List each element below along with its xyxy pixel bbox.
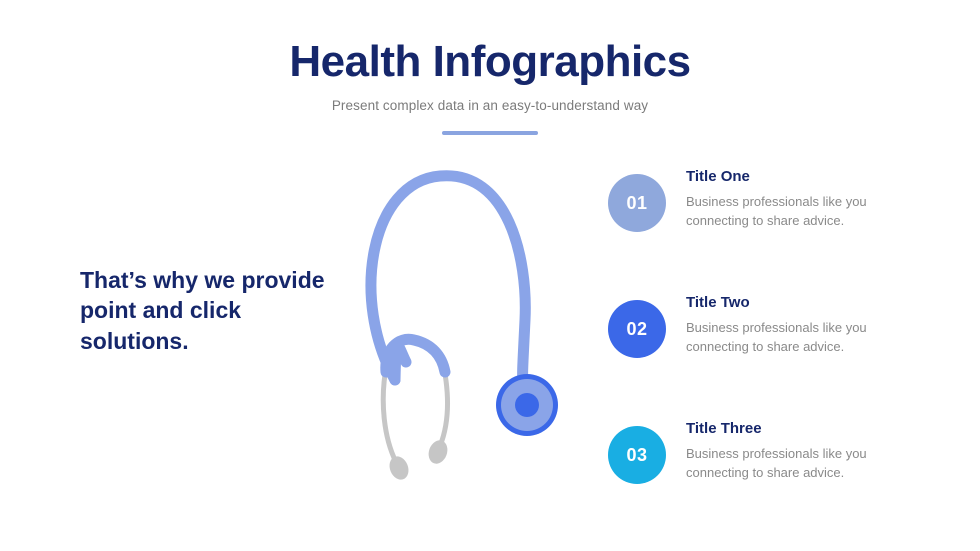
chestpiece-icon <box>496 374 558 436</box>
steps-list: 01 Title One Business professionals like… <box>608 168 938 516</box>
list-item[interactable]: 02 Title Two Business professionals like… <box>608 294 938 390</box>
step-description: Business professionals like you connecti… <box>686 319 901 357</box>
stethoscope-left-tube <box>395 346 406 380</box>
step-badge-03: 03 <box>608 426 666 484</box>
step-badge-01: 01 <box>608 174 666 232</box>
list-item[interactable]: 01 Title One Business professionals like… <box>608 168 938 264</box>
slide-canvas: Health Infographics Present complex data… <box>0 0 980 551</box>
step-badge-02: 02 <box>608 300 666 358</box>
ear-buds-icon <box>386 438 450 483</box>
list-item[interactable]: 03 Title Three Business professionals li… <box>608 420 938 516</box>
step-title: Title Three <box>686 420 938 438</box>
stethoscope-illustration <box>340 150 590 510</box>
page-title: Health Infographics <box>0 38 980 86</box>
step-description: Business professionals like you connecti… <box>686 193 901 231</box>
statement-text: That’s why we provide point and click so… <box>80 265 335 356</box>
step-title: Title Two <box>686 294 938 312</box>
step-title: Title One <box>686 168 938 186</box>
page-subtitle: Present complex data in an easy-to-under… <box>0 98 980 113</box>
slide-header: Health Infographics Present complex data… <box>0 38 980 135</box>
title-divider <box>442 131 538 135</box>
step-description: Business professionals like you connecti… <box>686 445 901 483</box>
